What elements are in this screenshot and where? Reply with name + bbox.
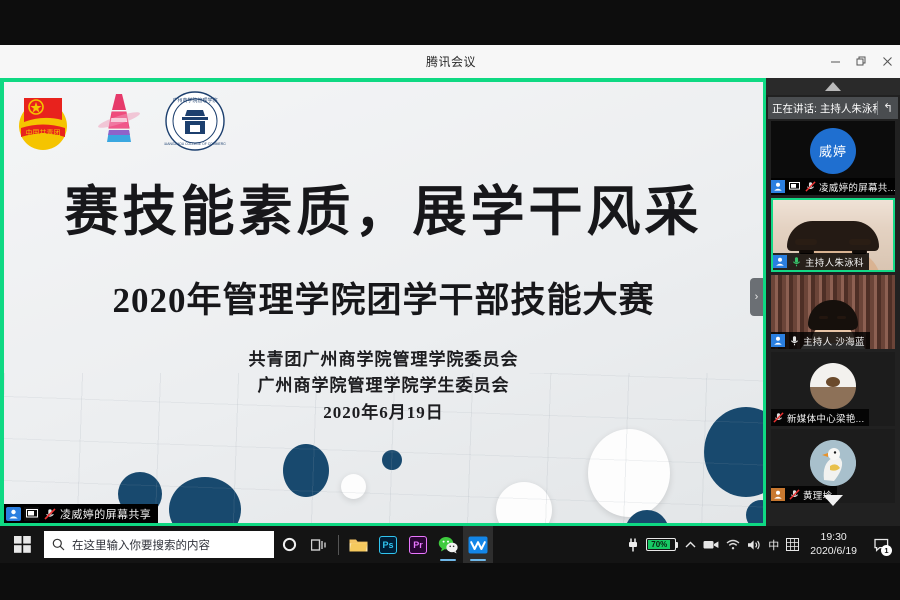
mic-muted-icon	[803, 180, 817, 193]
ime-keyboard-icon[interactable]	[786, 538, 799, 551]
monitor-share-icon	[24, 507, 39, 521]
battery-percent-label: 70%	[651, 540, 667, 549]
task-view-button[interactable]	[304, 526, 334, 563]
slide-main-title: 赛技能素质，展学干风采	[4, 167, 763, 246]
avatar	[810, 363, 856, 409]
window-controls	[822, 45, 900, 78]
participant-name: 主持人朱泳科	[805, 255, 864, 269]
search-input[interactable]: 在这里输入你要搜索的内容	[44, 531, 274, 558]
search-icon	[52, 538, 65, 551]
clock[interactable]: 19:30 2020/6/19	[806, 531, 861, 557]
battery-indicator[interactable]: 70%	[646, 538, 678, 551]
show-hidden-icons-button[interactable]	[685, 541, 696, 549]
chevron-up-icon	[825, 82, 841, 91]
participant-tile[interactable]: 主持人 沙海蓝	[771, 275, 895, 349]
participant-name: 凌威婷的屏幕共...	[819, 180, 895, 194]
camera-icon[interactable]	[703, 539, 719, 550]
mic-on-icon	[789, 255, 803, 268]
participant-tile-list: 威婷 凌威婷的屏幕共...	[766, 95, 900, 509]
photoshop-icon: Ps	[379, 536, 397, 554]
mic-on-icon	[787, 334, 801, 347]
search-placeholder-text: 在这里输入你要搜索的内容	[72, 537, 210, 553]
guangzhou-college-of-commerce-seal-icon: 广州商学院管理学院 GUANGZHOU COLLEGE OF COMMERCE	[164, 90, 226, 157]
decor-circle	[382, 450, 402, 470]
svg-text:GUANGZHOU COLLEGE OF COMMERCE: GUANGZHOU COLLEGE OF COMMERCE	[164, 142, 226, 146]
meeting-body: 中国共青团	[0, 78, 900, 526]
person-icon	[771, 180, 785, 193]
mic-muted-icon	[771, 411, 785, 424]
person-icon	[771, 334, 785, 347]
taskbar-divider	[338, 535, 339, 555]
person-icon	[6, 507, 21, 521]
restore-button[interactable]	[848, 45, 874, 78]
wechat-button[interactable]	[433, 526, 463, 563]
chevron-down-icon	[823, 495, 843, 506]
participants-scroll-up-button[interactable]	[766, 78, 900, 95]
slide-date: 2020年6月19日	[4, 400, 763, 426]
screen: 腾讯会议	[0, 0, 900, 600]
decor-circle	[283, 444, 329, 497]
clock-date: 2020/6/19	[810, 545, 857, 558]
slide-subtitle: 2020年管理学院团学干部技能大赛	[4, 272, 763, 323]
window-title: 腾讯会议	[80, 53, 822, 70]
volume-icon[interactable]	[747, 539, 761, 551]
participant-tile[interactable]: 威婷 凌威婷的屏幕共...	[771, 121, 895, 195]
decor-circle	[169, 477, 241, 523]
windows-taskbar: 在这里输入你要搜索的内容 Ps Pr	[0, 526, 900, 563]
avatar	[810, 440, 856, 486]
decor-circle	[746, 500, 763, 523]
participant-name: 主持人 沙海蓝	[803, 334, 865, 348]
active-speaker-bar: 正在讲话: 主持人朱泳科 ↰	[768, 97, 898, 119]
system-tray: 70%	[627, 526, 900, 563]
participants-scroll-down-button[interactable]	[766, 492, 900, 509]
action-center-button[interactable]: 1	[868, 526, 894, 563]
decor-circle	[341, 474, 366, 499]
monitor-share-icon	[787, 180, 801, 193]
power-plug-icon[interactable]	[627, 538, 639, 552]
letterbox-top	[0, 0, 900, 45]
presentation-slide: 中国共青团	[4, 82, 763, 523]
participant-name-row: 凌威婷的屏幕共...	[771, 178, 895, 195]
organizer-line-2: 广州商学院管理学院学生委员会	[4, 373, 763, 399]
tencent-meeting-button[interactable]	[463, 526, 493, 563]
premiere-pro-icon: Pr	[409, 536, 427, 554]
lighthouse-logo-icon	[96, 90, 142, 157]
letterbox-bottom	[0, 563, 900, 600]
active-speaker-label: 正在讲话: 主持人朱泳科	[768, 101, 877, 116]
return-icon[interactable]: ↰	[878, 101, 898, 115]
clock-time: 19:30	[810, 531, 857, 544]
mic-muted-icon	[42, 507, 57, 521]
screen-share-status-bar: 凌威婷的屏幕共享	[4, 504, 158, 523]
participant-name-row: 新媒体中心梁艳...	[771, 409, 869, 426]
person-icon	[773, 255, 787, 268]
window-titlebar: 腾讯会议	[0, 45, 900, 78]
premiere-pro-button[interactable]: Pr	[403, 526, 433, 563]
participant-tile[interactable]: 主持人朱泳科	[771, 198, 895, 272]
svg-text:广州商学院管理学院: 广州商学院管理学院	[172, 97, 217, 104]
start-button[interactable]	[0, 526, 44, 563]
slide-organizers: 共青团广州商学院管理学院委员会 广州商学院管理学院学生委员会 2020年6月19…	[4, 347, 763, 426]
avatar: 威婷	[810, 128, 856, 174]
participant-name-row: 主持人朱泳科	[773, 253, 869, 270]
communist-youth-league-emblem-icon: 中国共青团	[12, 90, 74, 157]
svg-text:中国共青团: 中国共青团	[26, 128, 61, 137]
shared-screen-viewport[interactable]: 中国共青团	[0, 78, 766, 526]
participant-name-row: 主持人 沙海蓝	[771, 332, 870, 349]
close-button[interactable]	[874, 45, 900, 78]
decor-circle	[496, 482, 552, 523]
wechat-icon	[438, 536, 458, 554]
organizer-line-1: 共青团广州商学院管理学院委员会	[4, 347, 763, 373]
tencent-meeting-icon	[468, 536, 488, 554]
notification-badge: 1	[881, 545, 892, 556]
screen-share-owner-label: 凌威婷的屏幕共享	[60, 506, 151, 522]
ime-indicator[interactable]: 中	[768, 537, 779, 553]
photoshop-button[interactable]: Ps	[373, 526, 403, 563]
file-explorer-button[interactable]	[343, 526, 373, 563]
decor-circle	[588, 429, 670, 517]
minimize-button[interactable]	[822, 45, 848, 78]
panel-collapse-handle[interactable]: ›	[750, 278, 763, 316]
slide-logos: 中国共青团	[12, 90, 226, 157]
participant-name: 新媒体中心梁艳...	[787, 411, 864, 425]
cortana-button[interactable]	[274, 526, 304, 563]
participant-tile[interactable]: 新媒体中心梁艳...	[771, 352, 895, 426]
participants-panel: 正在讲话: 主持人朱泳科 ↰ 威婷	[766, 78, 900, 526]
wifi-icon[interactable]	[726, 539, 740, 550]
